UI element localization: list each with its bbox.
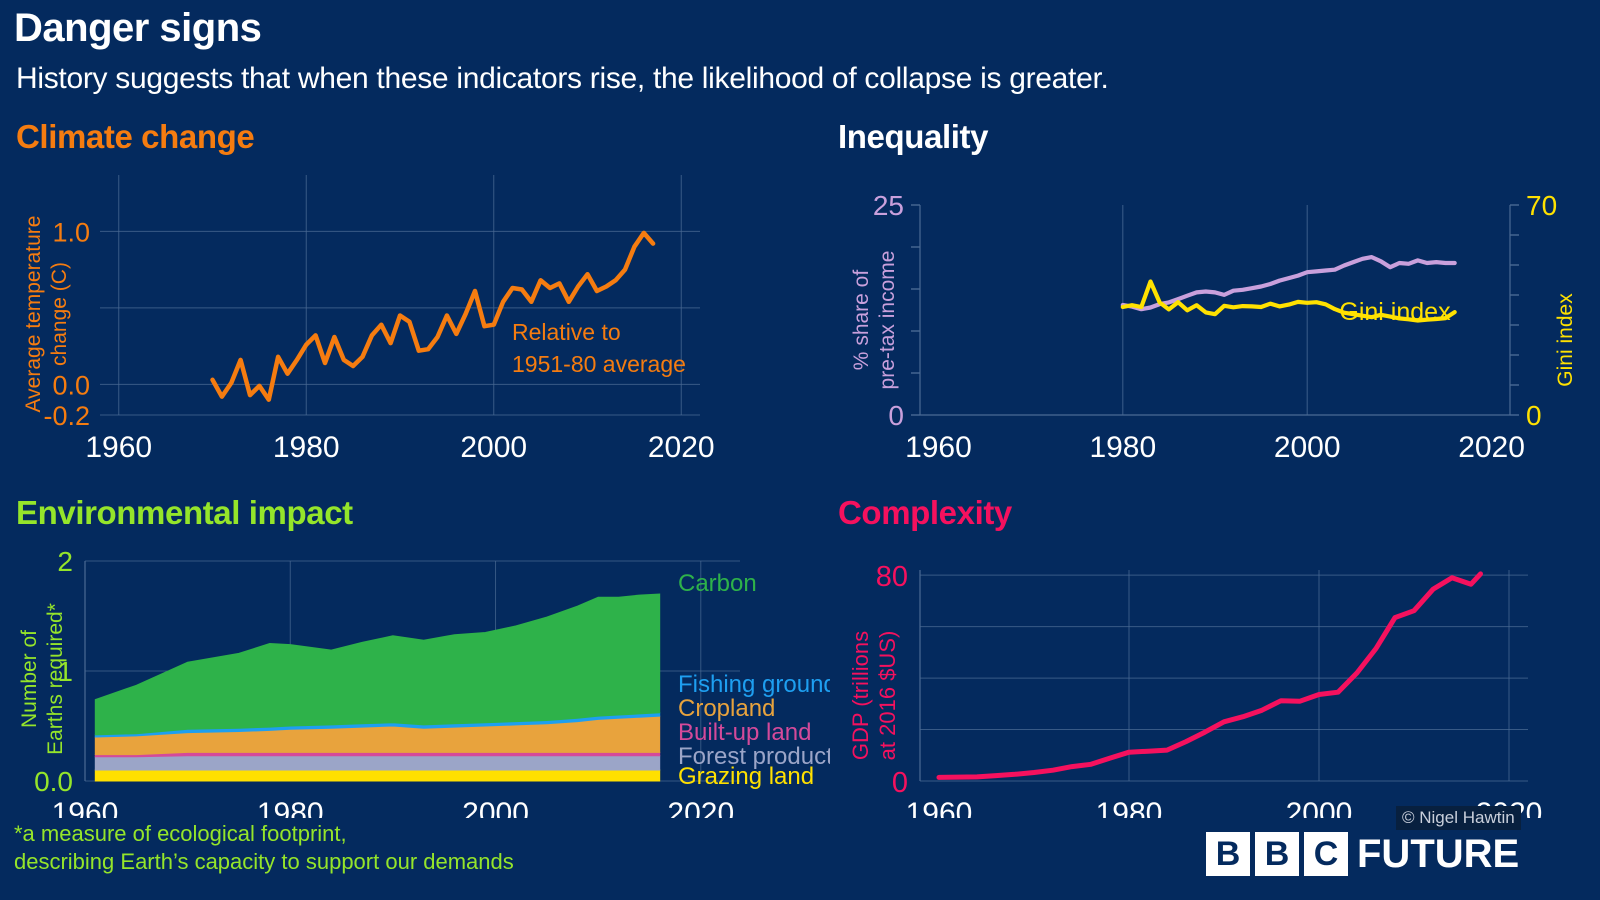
area-forest-products — [95, 756, 659, 770]
infographic-root: Danger signs History suggests that when … — [0, 0, 1600, 900]
bbc-letter-b1: B — [1206, 832, 1250, 876]
y-axis-label-left-line-1: % share of — [850, 270, 873, 371]
y-tick-label-right: 0 — [1526, 400, 1542, 431]
y-tick-label: 0.0 — [34, 766, 73, 797]
bbc-letter-c: C — [1304, 832, 1348, 876]
y-axis-label-left-line-2: pre-tax income — [876, 251, 899, 390]
area-grazing-land — [95, 770, 659, 781]
y-axis-label-line-2: Earths required* — [44, 603, 67, 755]
footnote: *a measure of ecological footprint, desc… — [14, 820, 514, 875]
bbc-letter-b2: B — [1255, 832, 1299, 876]
y-tick-label: 0.0 — [52, 370, 90, 400]
x-tick-label: 1960 — [906, 797, 973, 818]
y-tick-label-left: 25 — [873, 190, 904, 221]
panel-title-environment: Environmental impact — [16, 494, 353, 532]
annotation-line-1: Relative to — [512, 319, 621, 345]
y-axis-label-right-text: Gini index — [1554, 293, 1577, 387]
credit-label: © Nigel Hawtin — [1396, 806, 1521, 830]
x-tick-label: 1960 — [52, 797, 119, 818]
annotation-line-2: 1951-80 average — [512, 351, 686, 377]
y-tick-label: 80 — [876, 561, 908, 593]
y-axis-label: GDP (trillionsat 2016 $US) — [848, 631, 900, 761]
y-tick-label-left: 0 — [888, 400, 904, 431]
y-axis-label-line-1: GDP (trillions — [848, 631, 873, 760]
x-tick-label: 2000 — [1274, 431, 1341, 460]
panel-title-climate: Climate change — [16, 118, 254, 156]
x-tick-label: 1980 — [1096, 797, 1163, 818]
inline-label-gini: Gini index — [1339, 298, 1451, 326]
x-tick-label: 2020 — [667, 797, 734, 818]
chart-inequality: 0250701960198020002020% share ofpre-tax … — [810, 110, 1600, 460]
panel-climate-change: Climate change -0.20.01.0196019802000202… — [0, 110, 790, 460]
page-title: Danger signs — [14, 6, 261, 51]
future-wordmark: FUTURE — [1357, 832, 1519, 876]
y-axis-label: Number ofEarths required* — [18, 603, 67, 755]
chart-environmental-impact: 0.0121960198020002020Number ofEarths req… — [0, 488, 830, 818]
y-axis-label-left: % share ofpre-tax income — [850, 251, 899, 390]
panel-environmental-impact: Environmental impact 0.01219601980200020… — [0, 488, 830, 818]
x-tick-label: 2020 — [1458, 431, 1525, 460]
y-tick-label-right: 70 — [1526, 190, 1557, 221]
legend-label-cropland: Cropland — [678, 695, 775, 722]
x-tick-label: 1960 — [905, 431, 972, 460]
x-tick-label: 1980 — [1089, 431, 1156, 460]
y-tick-label: 1.0 — [52, 217, 90, 247]
y-axis-label-line-1: Average temperature — [22, 216, 45, 413]
y-tick-label: 2 — [57, 546, 73, 577]
y-tick-label: -0.2 — [43, 401, 90, 431]
legend-label-carbon: Carbon — [678, 570, 757, 597]
chart-climate-change: -0.20.01.01960198020002020Average temper… — [0, 110, 790, 460]
area-carbon — [95, 594, 659, 735]
x-tick-label: 1960 — [85, 431, 152, 460]
x-tick-label: 2000 — [460, 431, 527, 460]
footnote-line-2: describing Earth’s capacity to support o… — [14, 848, 514, 876]
y-axis-label-line-2: change (C) — [48, 262, 71, 366]
y-axis-label-right: Gini index — [1554, 293, 1577, 387]
x-tick-label: 1980 — [257, 797, 324, 818]
x-tick-label: 1980 — [273, 431, 340, 460]
panel-title-complexity: Complexity — [838, 494, 1012, 532]
panel-title-inequality: Inequality — [838, 118, 988, 156]
panel-complexity: Complexity 0801960198020002020GDP (trill… — [810, 488, 1600, 818]
legend-label-grazing-land: Grazing land — [678, 763, 814, 790]
legend-label-fishing-grounds: Fishing grounds — [678, 671, 830, 698]
x-tick-label: 2000 — [462, 797, 529, 818]
chart-complexity: 0801960198020002020GDP (trillionsat 2016… — [810, 488, 1600, 818]
y-axis-label-line-1: Number of — [18, 630, 41, 728]
page-subtitle: History suggests that when these indicat… — [16, 62, 1109, 96]
series-line-gdp — [939, 574, 1481, 778]
x-tick-label: 2020 — [648, 431, 715, 460]
y-axis-label-line-2: at 2016 $US) — [875, 631, 900, 761]
bbc-future-logo: B B C FUTURE — [1206, 832, 1519, 876]
legend-label-built-up-land: Built-up land — [678, 719, 811, 746]
footnote-line-1: *a measure of ecological footprint, — [14, 820, 514, 848]
x-tick-label: 2000 — [1286, 797, 1353, 818]
panel-inequality: Inequality 0250701960198020002020% share… — [810, 110, 1600, 460]
y-tick-label: 0 — [892, 767, 908, 799]
